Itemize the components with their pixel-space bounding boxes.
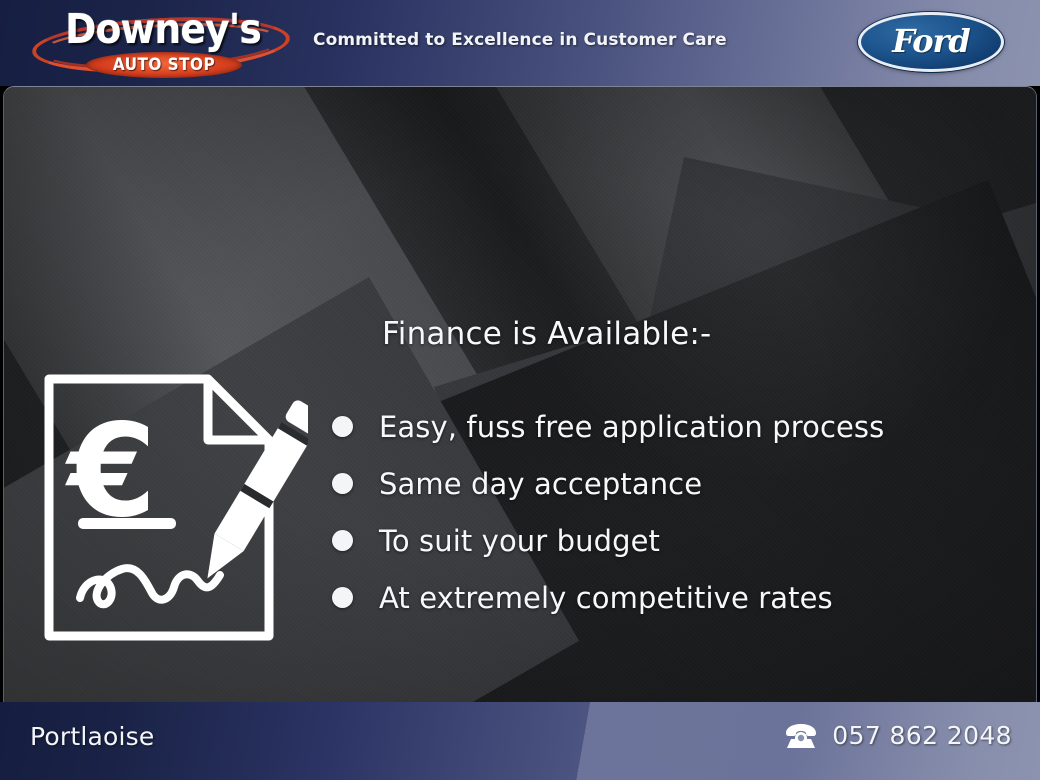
telephone-icon — [784, 722, 818, 750]
phone-number[interactable]: 057 862 2048 — [832, 721, 1012, 750]
logo-brand-name: Downey's — [39, 6, 287, 52]
bullet-dot-icon — [332, 416, 353, 437]
header-tagline: Committed to Excellence in Customer Care — [313, 30, 727, 50]
location-label: Portlaoise — [30, 722, 154, 751]
page-title: Finance is Available:- — [382, 316, 711, 352]
contact-block[interactable]: 057 862 2048 — [784, 721, 1012, 750]
list-item: Easy, fuss free application process — [332, 398, 884, 455]
list-item: At extremely competitive rates — [332, 569, 884, 626]
bullet-dot-icon — [332, 587, 353, 608]
finance-document-signature-icon: € — [40, 370, 308, 645]
bullet-dot-icon — [332, 530, 353, 551]
main-panel: € Finance is Available:- Easy, fuss free… — [3, 86, 1037, 702]
list-item-label: Same day acceptance — [379, 467, 702, 501]
footer-bar: Portlaoise 057 862 2048 — [0, 702, 1040, 780]
bullet-dot-icon — [332, 473, 353, 494]
signature-squiggle — [80, 568, 220, 604]
advert-banner: Downey's AUTO STOP Committed to Excellen… — [0, 0, 1040, 780]
list-item: Same day acceptance — [332, 455, 884, 512]
header-bar: Downey's AUTO STOP Committed to Excellen… — [0, 0, 1040, 86]
phone-dial-center — [798, 734, 804, 740]
document-rule-line — [78, 518, 176, 529]
ford-logo[interactable]: Ford — [858, 12, 1004, 72]
ford-wordmark: Ford — [858, 12, 1004, 72]
list-item-label: Easy, fuss free application process — [379, 410, 884, 444]
feature-list: Easy, fuss free application process Same… — [332, 398, 884, 626]
list-item-label: To suit your budget — [379, 524, 660, 558]
list-item: To suit your budget — [332, 512, 884, 569]
logo-sub-name: AUTO STOP — [94, 54, 234, 76]
downeys-logo[interactable]: Downey's AUTO STOP — [28, 4, 298, 84]
list-item-label: At extremely competitive rates — [379, 581, 833, 615]
